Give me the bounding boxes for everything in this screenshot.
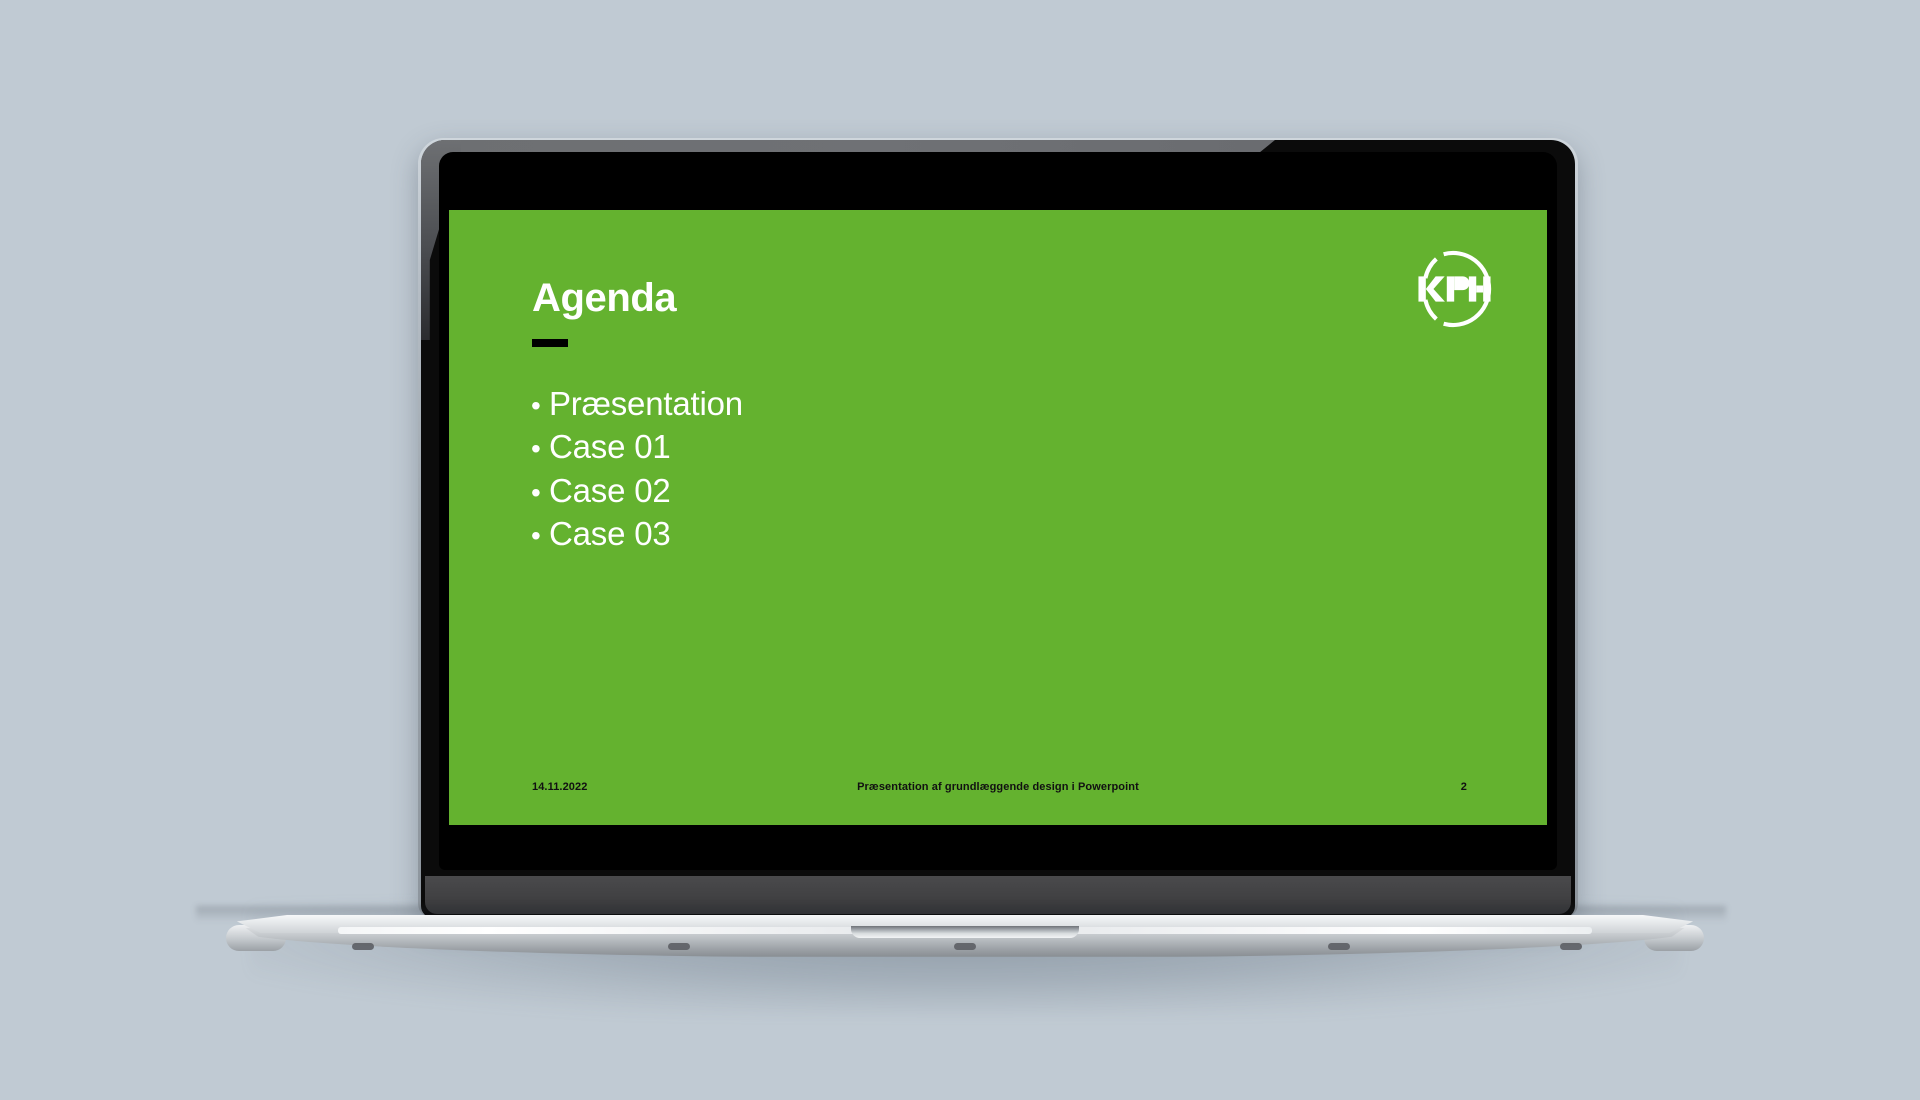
list-item[interactable]: • Præsentation bbox=[531, 385, 743, 423]
bullet-icon: • bbox=[531, 435, 549, 463]
footer-date: 14.11.2022 bbox=[532, 781, 587, 793]
list-item-label: Case 01 bbox=[549, 428, 671, 466]
base-foot bbox=[1560, 943, 1582, 950]
list-item-label: Case 03 bbox=[549, 515, 671, 553]
page-title: Agenda bbox=[532, 278, 676, 318]
title-underline-rule bbox=[532, 339, 568, 347]
base-foot bbox=[668, 943, 690, 950]
scene: Agenda • Præsentation • Case 01 • Case 0… bbox=[0, 0, 1920, 1100]
base-foot bbox=[1328, 943, 1350, 950]
footer-page-number: 2 bbox=[1461, 781, 1467, 793]
footer-title: Præsentation af grundlæggende design i P… bbox=[857, 781, 1139, 793]
bullet-icon: • bbox=[531, 479, 549, 507]
list-item[interactable]: • Case 02 bbox=[531, 472, 743, 510]
laptop-base bbox=[228, 913, 1702, 955]
base-foot bbox=[954, 943, 976, 950]
bullet-icon: • bbox=[531, 392, 549, 420]
base-foot bbox=[352, 943, 374, 950]
base-thumb-notch bbox=[851, 926, 1079, 938]
list-item-label: Præsentation bbox=[549, 385, 743, 423]
bullet-icon: • bbox=[531, 522, 549, 550]
presentation-slide[interactable]: Agenda • Præsentation • Case 01 • Case 0… bbox=[449, 210, 1547, 825]
list-item[interactable]: • Case 03 bbox=[531, 515, 743, 553]
agenda-list: • Præsentation • Case 01 • Case 02 • Cas… bbox=[531, 385, 743, 558]
list-item[interactable]: • Case 01 bbox=[531, 428, 743, 466]
slide-footer: 14.11.2022 Præsentation af grundlæggende… bbox=[449, 781, 1547, 797]
kph-logo-icon bbox=[1409, 244, 1499, 334]
list-item-label: Case 02 bbox=[549, 472, 671, 510]
